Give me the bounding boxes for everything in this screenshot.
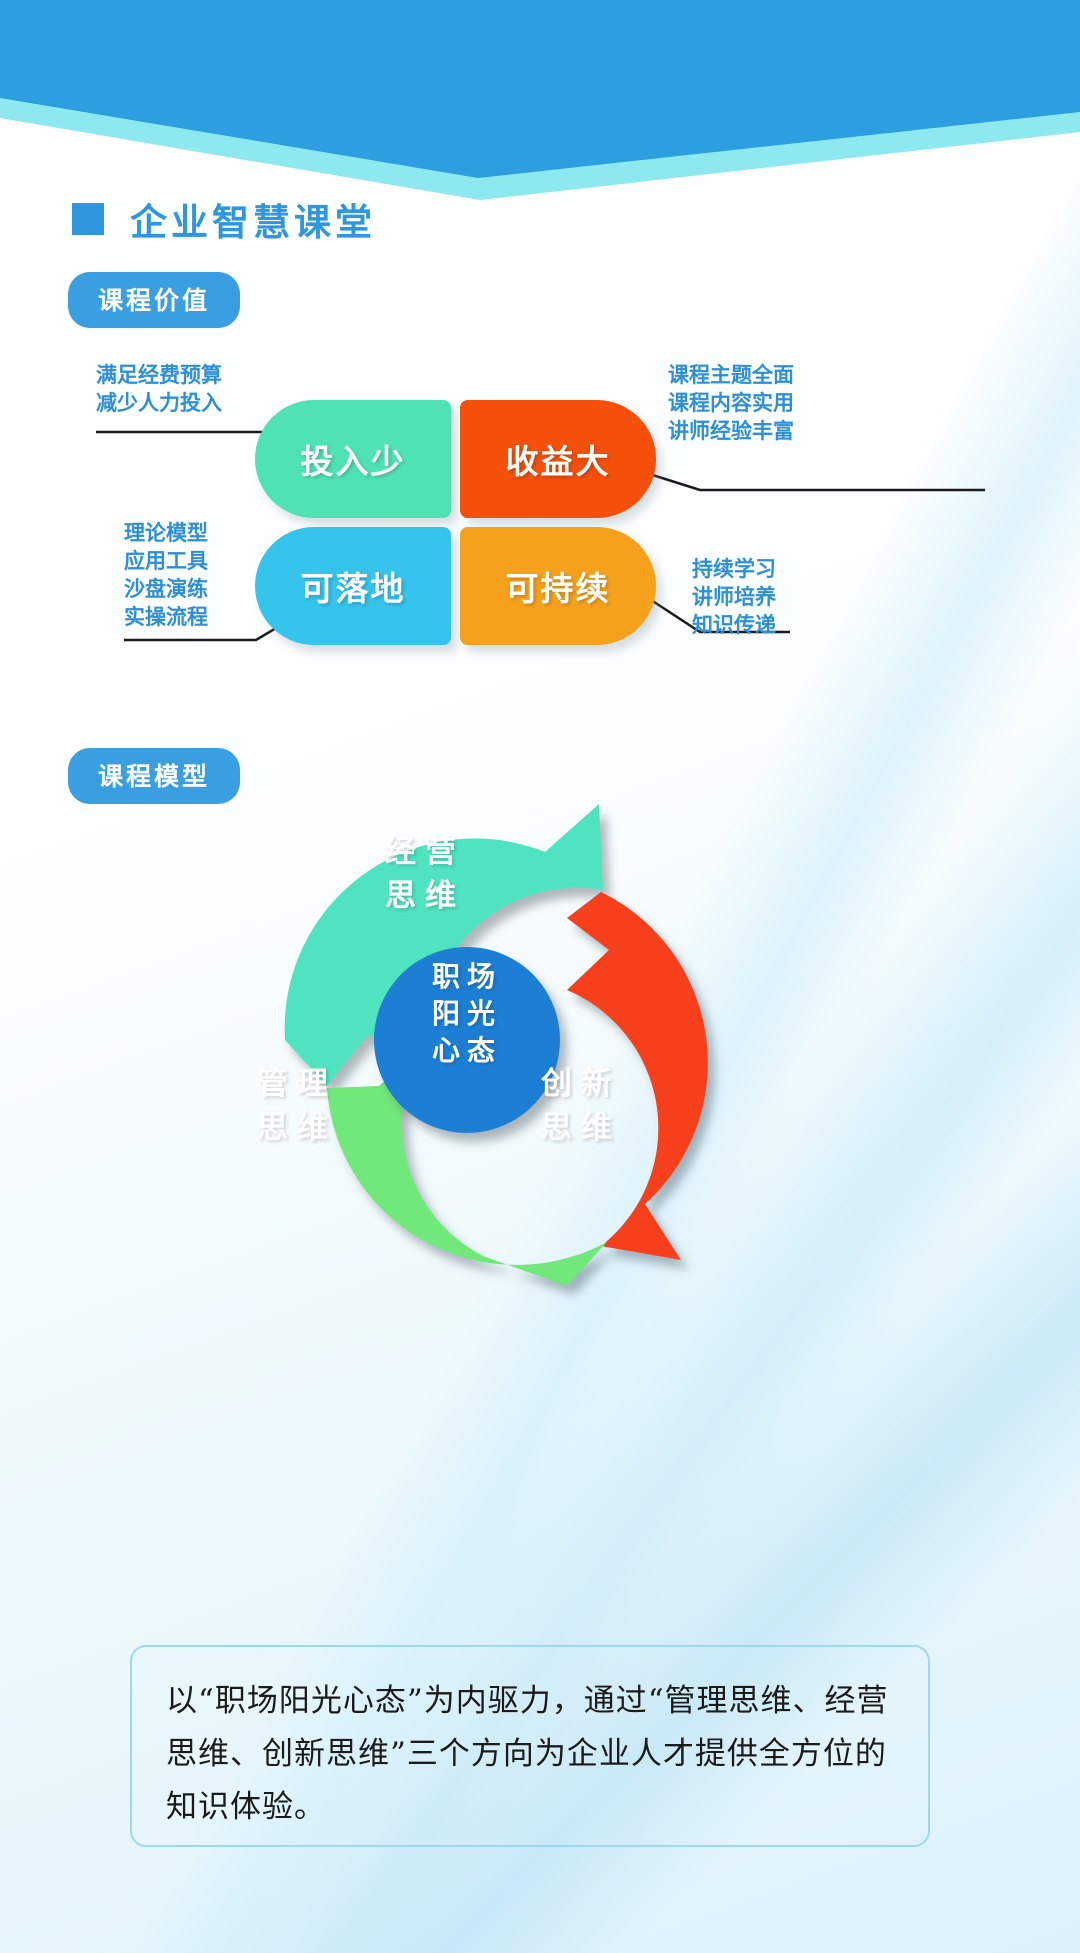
- arm-top-label: 经营思维: [385, 830, 465, 918]
- caption-bottom-right: 持续学习讲师培养知识传递: [692, 556, 776, 640]
- header-band-main: [0, 0, 1080, 180]
- badge-course-value: 课程价值: [68, 272, 240, 328]
- petal-top-right-label: 收益大: [506, 435, 611, 483]
- title-text: 企业智慧课堂: [130, 192, 376, 246]
- petal-top-right[interactable]: 收益大: [460, 400, 656, 518]
- caption-top-right: 课程主题全面课程内容实用讲师经验丰富: [668, 362, 794, 446]
- model-wheel: 经营思维 管理思维 创新思维 职场阳光心态: [215, 790, 865, 1310]
- petal-bottom-right[interactable]: 可持续: [460, 527, 656, 645]
- value-petal-group: 投入少 收益大 可落地 可持续: [255, 400, 655, 650]
- petal-top-left-label: 投入少: [301, 435, 406, 483]
- summary-note: 以“职场阳光心态”为内驱力，通过“管理思维、经营思维、创新思维”三个方向为企业人…: [130, 1645, 930, 1847]
- caption-bottom-left: 理论模型应用工具沙盘演练实操流程: [124, 520, 208, 632]
- caption-top-left: 满足经费预算减少人力投入: [96, 362, 222, 418]
- page-title: 企业智慧课堂: [72, 192, 376, 246]
- title-square-marker: [72, 203, 104, 235]
- arm-right-label: 创新思维: [541, 1062, 621, 1150]
- petal-bottom-left[interactable]: 可落地: [255, 527, 451, 645]
- center-label: 职场阳光心态: [393, 958, 541, 1069]
- poster-page: 企业智慧课堂 课程价值 投入少 收益大 可落地 可持续 满足经费预算减少人力投入…: [0, 0, 1080, 1953]
- petal-bottom-right-label: 可持续: [506, 562, 611, 610]
- petal-bottom-left-label: 可落地: [301, 562, 406, 610]
- petal-top-left[interactable]: 投入少: [255, 400, 451, 518]
- arm-left-label: 管理思维: [257, 1062, 337, 1150]
